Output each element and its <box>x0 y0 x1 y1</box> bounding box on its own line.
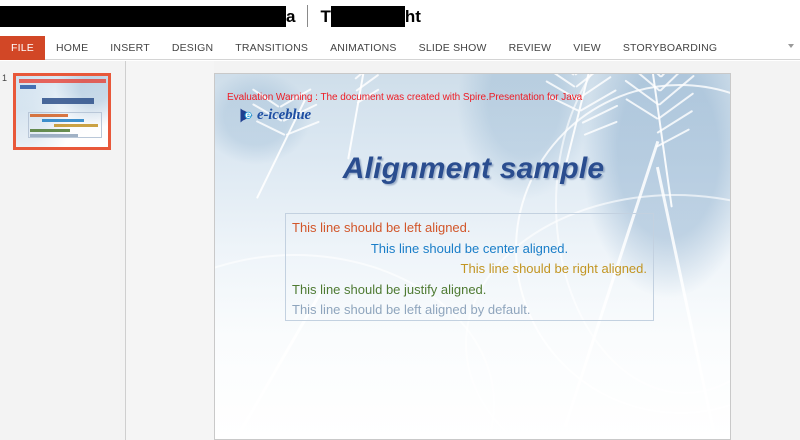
tab-slide-show[interactable]: SLIDE SHOW <box>408 36 498 60</box>
powerpoint-window: a T ht FILE HOME INSERT DESIGN TRANSITIO… <box>0 0 800 440</box>
canvas-left-gutter <box>126 61 214 440</box>
tab-file[interactable]: FILE <box>0 36 45 60</box>
body-line-justify-aligned: This line should be justify aligned. <box>292 280 647 301</box>
body-line-center-aligned: This line should be center aligned. <box>292 239 647 260</box>
canvas-right-gutter <box>731 61 800 440</box>
title-redaction-block-middle <box>331 6 405 27</box>
title-fragment-t: T <box>320 6 330 27</box>
ribbon-tab-bar: FILE HOME INSERT DESIGN TRANSITIONS ANIM… <box>0 36 800 60</box>
tab-home[interactable]: HOME <box>45 36 99 60</box>
e-iceblue-logo-text: e-iceblue <box>257 107 311 124</box>
slide-canvas[interactable]: Evaluation Warning : The document was cr… <box>214 73 731 440</box>
title-redaction-block-left <box>0 6 286 27</box>
slide-thumbnail-selection-frame <box>13 73 111 150</box>
tab-transitions[interactable]: TRANSITIONS <box>224 36 319 60</box>
thumbnail-warning-line <box>19 79 106 83</box>
title-fragment-ht: ht <box>405 6 421 27</box>
tab-insert[interactable]: INSERT <box>99 36 161 60</box>
tab-animations[interactable]: ANIMATIONS <box>319 36 408 60</box>
body-line-right-aligned: This line should be right aligned. <box>292 259 647 280</box>
tab-design[interactable]: DESIGN <box>161 36 224 60</box>
slide-body-textbox[interactable]: This line should be left aligned. This l… <box>285 213 654 321</box>
title-bar: a T ht <box>0 0 800 32</box>
tab-view[interactable]: VIEW <box>562 36 612 60</box>
slide-number-label: 1 <box>2 73 7 83</box>
thumbnail-body-line-4 <box>30 129 70 132</box>
e-iceblue-logo: e-iceblue <box>239 106 311 124</box>
thumbnail-body-line-5 <box>30 134 78 137</box>
slide-thumbnail-preview <box>16 76 108 147</box>
slide-title[interactable]: Alignment sample <box>215 152 731 186</box>
title-separator <box>307 5 308 27</box>
tab-review[interactable]: REVIEW <box>498 36 563 60</box>
chevron-down-icon[interactable] <box>788 44 794 48</box>
thumbnail-body-line-1 <box>30 114 68 117</box>
thumbnail-logo-mark <box>20 85 36 89</box>
slide-thumbnail-1[interactable] <box>13 73 111 150</box>
slide-thumbnail-pane[interactable]: 1 <box>0 61 126 440</box>
body-line-left-aligned: This line should be left aligned. <box>292 218 647 239</box>
body-line-default-aligned: This line should be left aligned by defa… <box>292 300 647 321</box>
title-fragment-a: a <box>286 6 295 27</box>
thumbnail-body-line-3 <box>54 124 98 127</box>
thumbnail-title-line <box>42 98 94 104</box>
tab-storyboarding[interactable]: STORYBOARDING <box>612 36 728 60</box>
thumbnail-body-line-2 <box>42 119 84 122</box>
evaluation-warning-text: Evaluation Warning : The document was cr… <box>227 92 582 103</box>
e-iceblue-logo-icon <box>239 107 256 124</box>
work-area: 1 <box>0 61 800 440</box>
